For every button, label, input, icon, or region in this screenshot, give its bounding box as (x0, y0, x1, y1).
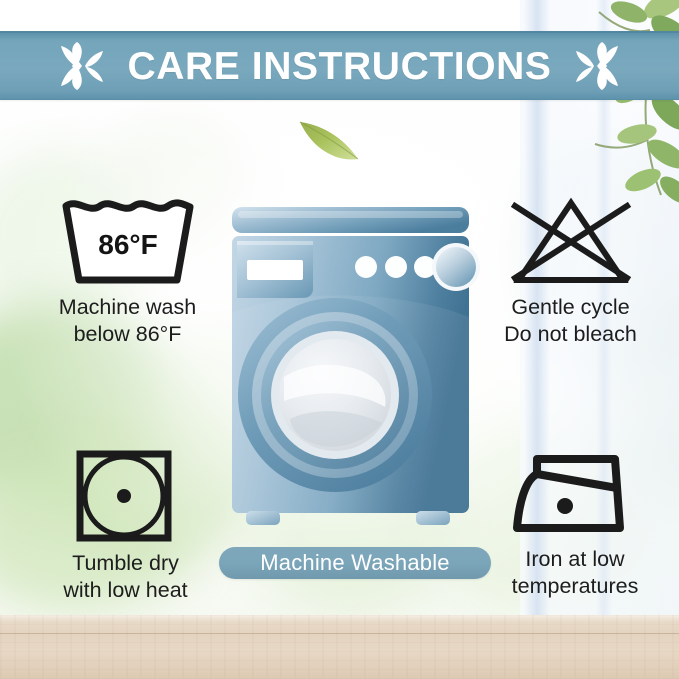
care-item-caption: Machine wash below 86°F (59, 294, 196, 347)
iron-low-temperature-icon (507, 452, 643, 540)
washer-control-button[interactable] (355, 256, 377, 278)
heat-level-dot (557, 498, 573, 514)
page-title: CARE INSTRUCTIONS (127, 47, 551, 86)
washer-drawer-highlight (237, 241, 313, 245)
fleur-de-lis-icon (568, 41, 630, 91)
care-item-machine-wash: 86°F Machine wash below 86°F (20, 196, 235, 347)
machine-washable-badge: Machine Washable (219, 547, 491, 579)
fleur-de-lis-icon (49, 41, 111, 91)
wooden-table-surface (0, 615, 679, 679)
care-item-caption: Tumble dry with low heat (63, 550, 187, 603)
care-item-iron-low: Iron at low temperatures (478, 452, 672, 599)
washer-lid-highlight (238, 211, 463, 218)
washing-machine-illustration (218, 205, 483, 535)
care-item-gentle-no-bleach: Gentle cycle Do not bleach (472, 196, 669, 347)
floating-leaf-decoration (297, 118, 361, 164)
washer-control-button[interactable] (385, 256, 407, 278)
wash-tub-icon: 86°F (59, 196, 197, 288)
heat-level-dot (117, 489, 131, 503)
washer-top-lid (232, 207, 469, 233)
washer-foot (246, 511, 280, 525)
washer-foot (416, 511, 450, 525)
wash-tub-temperature: 86°F (98, 229, 157, 260)
care-item-caption: Iron at low temperatures (512, 546, 639, 599)
wood-grain (0, 615, 679, 679)
care-item-tumble-dry: Tumble dry with low heat (22, 448, 229, 603)
tumble-dry-low-heat-icon (73, 448, 178, 544)
triangle-crossed-no-bleach-icon (501, 196, 641, 288)
washer-drawer-slot (247, 260, 303, 280)
care-item-caption: Gentle cycle Do not bleach (504, 294, 637, 347)
badge-label: Machine Washable (260, 552, 449, 574)
header-banner: CARE INSTRUCTIONS (0, 31, 679, 100)
